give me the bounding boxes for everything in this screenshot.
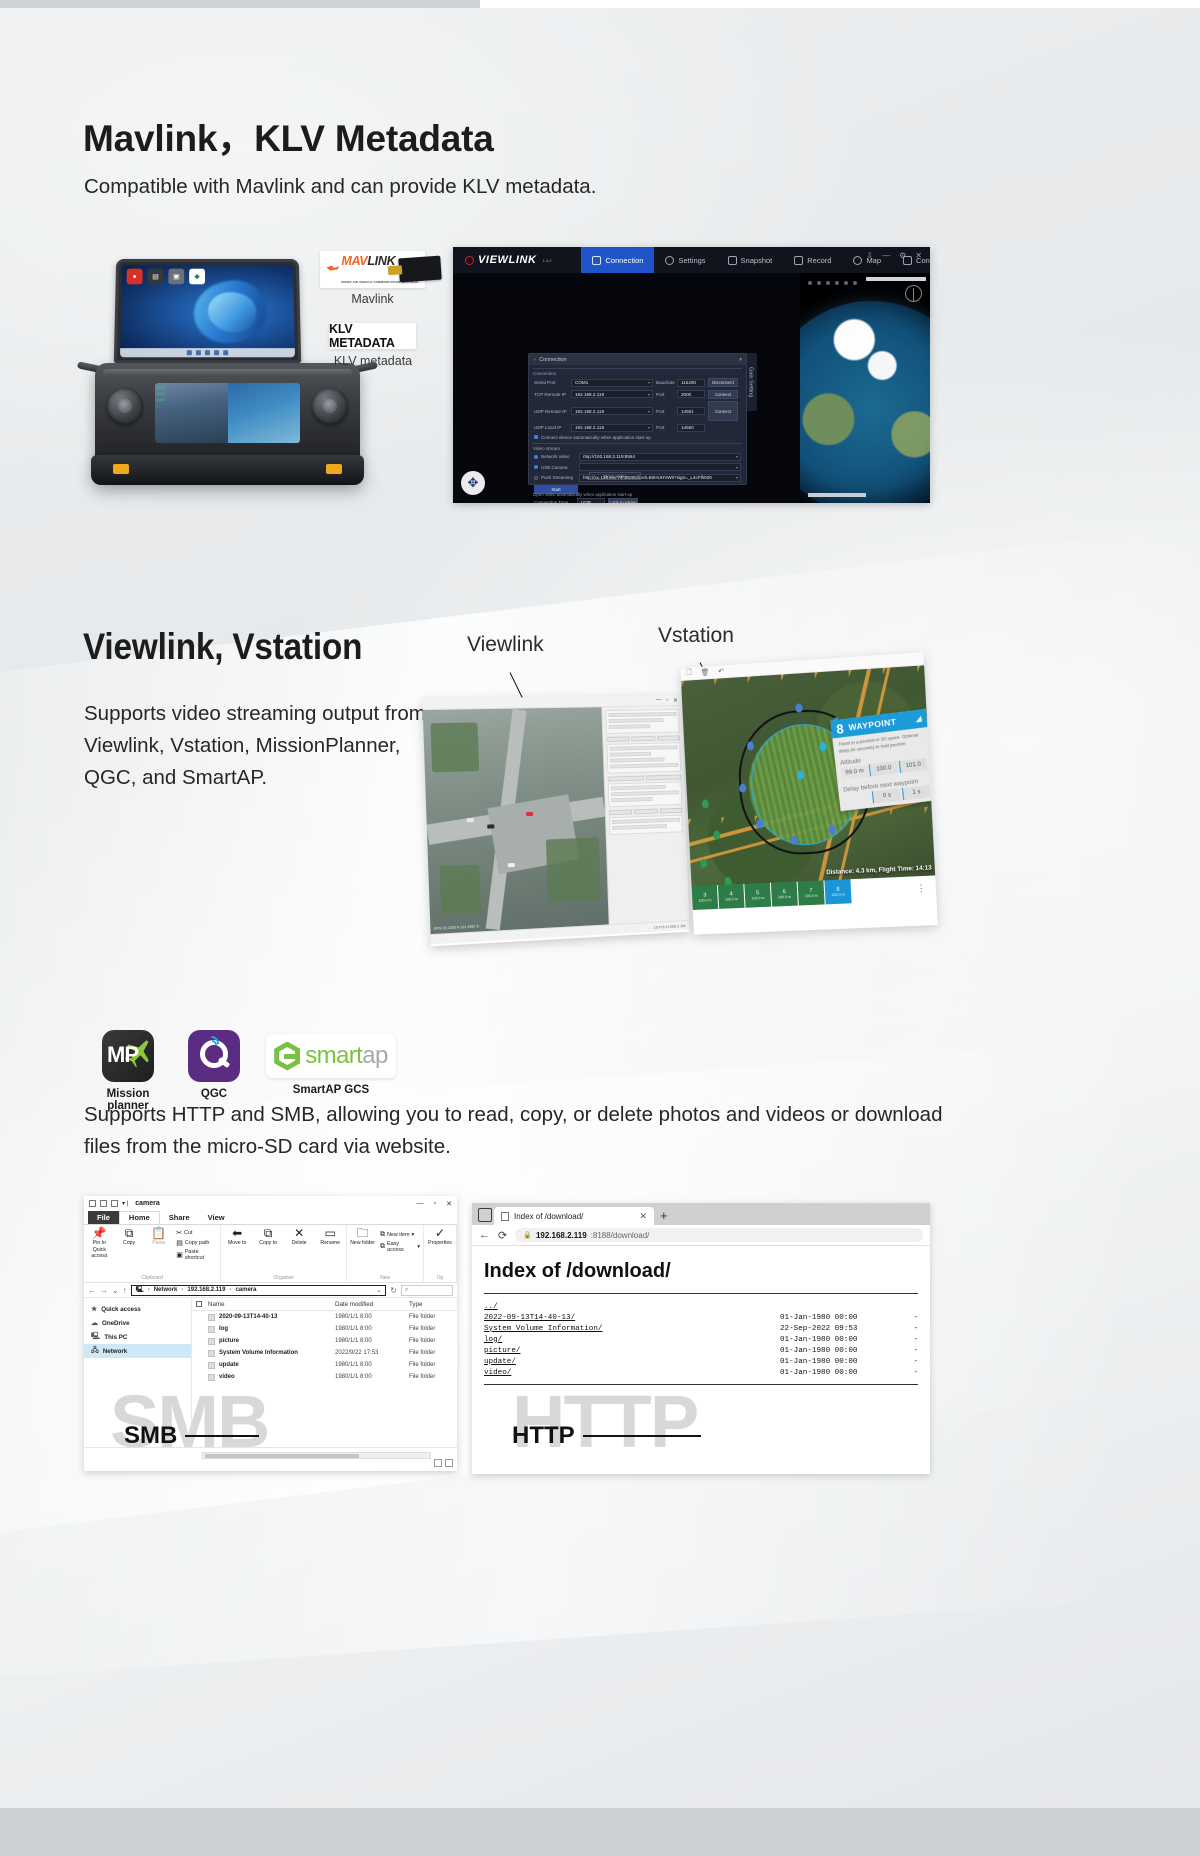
browser-tab[interactable]: Index of /download/ ✕ — [494, 1207, 654, 1225]
explorer-icon — [89, 1200, 96, 1207]
dir-date: 01-Jan-1980 00:00 — [780, 1358, 888, 1366]
baudrate-label: Baudrate — [656, 380, 674, 385]
viewlink-video-window: — ▫ ✕ GPS 31.2345 N 121.4567 E — [422, 695, 689, 946]
page-favicon — [501, 1212, 509, 1221]
dialog-logo-icon: ◑ — [533, 357, 536, 363]
dir-link[interactable]: ../ — [484, 1303, 498, 1311]
copy-to-icon: ⧉ — [264, 1227, 273, 1239]
logo-smartap: smartap SmartAP GCS — [266, 1034, 396, 1096]
file-icon[interactable]: 🗋 — [686, 668, 692, 679]
desktop-icon-red: ● — [127, 269, 143, 285]
waypoint-chip[interactable]: 7100.0 m — [798, 880, 826, 905]
explorer-titlebar: ▾ | camera — ▫ ✕ — [84, 1196, 457, 1211]
viewlink-nav-connection[interactable]: Connection — [581, 247, 654, 273]
row-udp-remote-ip: UDP Remote IP 192.168.2.119▾ Port 14551 … — [534, 401, 741, 421]
undo-icon[interactable]: ↶ — [718, 667, 724, 675]
cloud-icon: ☁ — [91, 1319, 98, 1327]
connection-dialog: ◑ Connection ▾ Connection Serial Port CO… — [528, 353, 747, 485]
controller-screen: ● ▤ ▣ ◆ — [114, 259, 301, 363]
up-icon[interactable]: ↑ — [123, 1286, 127, 1295]
row-connection-type: Connection Type UDP Lock to Vision — [534, 498, 741, 503]
dialog-title: Connection — [539, 357, 566, 363]
qgc-icon — [188, 1030, 240, 1082]
autoconnect-checkbox[interactable]: Connect device automatically when applic… — [534, 435, 741, 440]
controller-preview-screen: 0.000.000.00 — [155, 383, 300, 443]
table-row[interactable]: System Volume Information 2022/9/22 17:5… — [192, 1347, 457, 1359]
rename-icon: ▭ — [325, 1227, 336, 1239]
table-row[interactable]: 2020-09-13T14-40-13 1980/1/1 8:00File fo… — [192, 1311, 457, 1323]
row-usb-camera: USB Camera ▾ — [534, 463, 741, 471]
group-caption: New — [380, 1275, 390, 1282]
icons-view-icon[interactable] — [445, 1459, 453, 1467]
new-item-button[interactable]: ⧉New item▾ — [380, 1231, 420, 1239]
browser-address-bar: ← ⟳ 🔒 192.168.2.119:8188/download/ — [472, 1225, 930, 1246]
easy-access-button[interactable]: ⧉Easy access▾ — [380, 1241, 420, 1253]
column-date-modified[interactable]: Date modified — [335, 1301, 409, 1308]
callout-label-viewlink: Viewlink — [467, 633, 544, 657]
desktop-icon-smartap: ◆ — [189, 269, 205, 285]
bottom-strip — [0, 1808, 1200, 1856]
minimize-icon[interactable]: — — [882, 251, 890, 260]
viewlink-version: 1.4.0 — [543, 258, 552, 263]
minimize-icon[interactable]: — — [656, 697, 662, 703]
easy-access-icon: ⧉ — [380, 1243, 385, 1251]
move-to-button[interactable]: ⬅Move to — [224, 1227, 250, 1247]
cut-button[interactable]: ✂Cut — [176, 1229, 217, 1237]
paste-button[interactable]: 📋Paste — [146, 1227, 171, 1247]
rename-button[interactable]: ▭Rename — [317, 1227, 343, 1247]
desktop-icon-grey: ▣ — [168, 269, 184, 285]
nav-label: Snapshot — [741, 256, 773, 265]
list-item: log/ 01-Jan-1980 00:00 - — [484, 1334, 918, 1345]
dir-date: 01-Jan-1980 00:00 — [780, 1347, 888, 1355]
waypoint-number: 8 — [836, 721, 845, 737]
dir-link[interactable]: log/ — [484, 1336, 502, 1344]
network-video-label: Network video — [541, 454, 570, 459]
udp-local-ip-input[interactable]: 192.168.2.119▾ — [571, 424, 653, 432]
serial-port-label: Serial Port — [534, 380, 568, 385]
compass-icon — [905, 285, 922, 302]
dir-size: - — [888, 1314, 918, 1322]
smb-label: SMB — [124, 1422, 259, 1450]
waypoint-chip[interactable]: 3100.0 m — [692, 885, 720, 910]
search-input[interactable]: ⌕ — [401, 1285, 453, 1296]
push-streaming-label: Push Streaming — [541, 475, 573, 480]
autoconnect-label: Connect device automatically when applic… — [541, 435, 651, 440]
url-path: :8188/download/ — [591, 1231, 650, 1240]
close-video-button[interactable]: Close Video — [589, 472, 641, 480]
udp-local-ip-label: UDP Local IP — [534, 425, 568, 430]
dir-link[interactable]: picture/ — [484, 1347, 520, 1355]
plug-icon — [592, 256, 601, 265]
dir-link[interactable]: update/ — [484, 1358, 516, 1366]
tcp-port-label: Port — [656, 392, 674, 397]
folder-icon: 🗀 — [357, 1227, 369, 1239]
list-item: video/ 01-Jan-1980 00:00 - — [484, 1367, 918, 1378]
table-row[interactable]: log 1980/1/1 8:00File folder — [192, 1323, 457, 1335]
delete-x-icon: ✕ — [294, 1227, 304, 1239]
dir-size: - — [888, 1347, 918, 1355]
section3-body: Supports HTTP and SMB, allowing you to r… — [84, 1099, 984, 1163]
map-pin-icon — [853, 256, 862, 265]
column-name[interactable]: Name — [192, 1301, 335, 1308]
nav-network[interactable]: 🖧Network — [84, 1344, 191, 1358]
copy-button[interactable]: ⧉Copy — [117, 1227, 142, 1247]
reload-icon[interactable]: ⟳ — [498, 1229, 507, 1242]
recenter-icon[interactable]: ✥ — [461, 471, 485, 495]
tcp-remote-ip-label: TCP Remote IP — [534, 392, 568, 397]
pin-icon[interactable]: ⇩ — [866, 251, 873, 260]
scissors-icon: ✂ — [176, 1229, 182, 1237]
list-item: System Volume Information/ 22-Sep-2022 0… — [484, 1323, 918, 1334]
altitude-option-1[interactable]: 100.0 — [869, 761, 898, 776]
connection-type-label: Connection Type — [534, 500, 574, 503]
folder-icon — [208, 1338, 215, 1345]
section2-body: Supports video streaming output from Vie… — [84, 698, 434, 793]
column-type[interactable]: Type — [409, 1301, 457, 1308]
mavlink-bird-icon — [326, 264, 339, 276]
record-icon — [794, 256, 803, 265]
viewlink-nav-settings[interactable]: Settings — [654, 247, 716, 273]
waypoint-chip[interactable]: 6100.0 m — [771, 882, 799, 907]
refresh-icon[interactable]: ↻ — [390, 1286, 397, 1295]
star-icon: ★ — [91, 1305, 97, 1313]
baudrate-input[interactable]: 115200 — [677, 379, 705, 387]
list-item: ../ — [484, 1301, 918, 1312]
udp-remote-port-label: Port — [656, 409, 674, 414]
map-scale — [808, 493, 866, 497]
delay-option-2[interactable]: 1 s — [902, 785, 931, 800]
nav-quick-access[interactable]: ★Quick access — [84, 1302, 191, 1316]
usb-camera-label: USB Camera — [541, 465, 568, 470]
folder-icon — [208, 1326, 215, 1333]
video-osd: GPS 31.2345 N 121.4567 E — [433, 924, 479, 931]
delay-option-1[interactable]: 0 s — [872, 788, 901, 803]
viewlink-ring-icon — [465, 256, 474, 265]
group-connection-label: Connection — [533, 368, 742, 376]
tab-view[interactable]: View — [199, 1211, 234, 1224]
dir-size: - — [888, 1325, 918, 1333]
dir-link[interactable]: 2022-09-13T14-40-13/ — [484, 1314, 575, 1322]
computer-icon: 🖳 — [136, 1285, 144, 1295]
dialog-footer-note: Open video automatically when applicatio… — [533, 492, 632, 497]
ribbon-group-clipboard: 📌Pin to Quick access ⧉Copy 📋Paste ✂Cut ▤… — [84, 1225, 221, 1282]
usb-module-icon — [398, 256, 442, 283]
udp-connect-button[interactable]: Connect — [708, 401, 738, 421]
mavlink-wordmark-orange: MAV — [341, 254, 367, 268]
explorer-tabs: File Home Share View — [84, 1211, 457, 1225]
explorer-window-title: camera — [135, 1200, 160, 1207]
viewlink-logo: VIEWLINK 1.4.0 — [465, 254, 551, 266]
close-tab-icon[interactable]: ✕ — [639, 1211, 647, 1222]
explorer-ribbon: 📌Pin to Quick access ⧉Copy 📋Paste ✂Cut ▤… — [84, 1225, 457, 1283]
close-icon[interactable]: ✕ — [673, 697, 678, 704]
folder-icon — [208, 1350, 215, 1357]
table-row[interactable]: update 1980/1/1 8:00File folder — [192, 1359, 457, 1371]
controller-base-plate — [91, 455, 364, 485]
serial-port-input[interactable]: COM1▾ — [571, 379, 653, 387]
recent-icon[interactable]: ⌄ — [112, 1286, 119, 1295]
directory-listing: ../ 2022-09-13T14-40-13/ 01-Jan-1980 00:… — [472, 1294, 930, 1378]
udp-local-port-input[interactable]: 14550 — [677, 424, 705, 432]
smartap-wordmark-grey: ap — [362, 1042, 388, 1069]
mavlink-caption: Mavlink — [320, 292, 425, 306]
ribbon-group-organize: ⬅Move to ⧉Copy to ✕Delete ▭Rename Organi… — [221, 1225, 347, 1282]
new-folder-button[interactable]: 🗀New folder — [350, 1227, 375, 1247]
new-tab-icon[interactable]: + — [660, 1208, 668, 1223]
smartap-wordmark-green: smart — [305, 1042, 362, 1069]
row-serial-port: Serial Port COM1▾ Baudrate 115200 Discon… — [534, 378, 741, 387]
row-network-video: Network video rtsp://192.168.2.119:8554▾ — [534, 453, 741, 461]
browser-tabstrip: Index of /download/ ✕ + — [472, 1203, 930, 1225]
dir-size: - — [888, 1358, 918, 1366]
altitude-current[interactable]: 99.0 m — [841, 765, 869, 780]
group-video-label: Video stream — [533, 443, 742, 451]
lock-to-vision-button[interactable]: Lock to Vision — [608, 498, 638, 503]
page-title: Index of /download/ — [472, 1246, 930, 1293]
dir-link[interactable]: video/ — [484, 1369, 511, 1377]
dir-date: 01-Jan-1980 00:00 — [780, 1336, 888, 1344]
details-view-icon[interactable] — [434, 1459, 442, 1467]
lock-icon: 🔒 — [523, 1231, 532, 1239]
waypoint-panel-title: WAYPOINT — [848, 717, 897, 733]
nav-label: Connection — [605, 256, 643, 265]
viewlink-nav-record[interactable]: Record — [783, 247, 842, 273]
select-all-checkbox[interactable] — [196, 1301, 202, 1307]
waypoint-chip[interactable]: 5100.0 m — [744, 883, 772, 908]
dir-link[interactable]: System Volume Information/ — [484, 1325, 602, 1333]
waypoint-panel: 8 WAYPOINT Travel to a position in 3D sp… — [830, 709, 936, 811]
disconnect-button[interactable]: Disconnect — [708, 378, 738, 387]
pin-icon: 📌 — [92, 1227, 107, 1239]
copy-path-button[interactable]: ▤Copy path — [176, 1239, 217, 1247]
klv-badge-text: KLV METADATA — [329, 322, 416, 350]
tab-search-icon[interactable] — [478, 1208, 492, 1222]
viewlink-globe-view — [800, 273, 930, 503]
collapse-icon[interactable] — [915, 716, 922, 723]
table-row[interactable]: picture 1980/1/1 8:00File folder — [192, 1335, 457, 1347]
paste-icon: 📋 — [151, 1227, 166, 1239]
vstation-window: 🗋 🗑 ↶ Distance: — [680, 652, 937, 934]
viewlink-app-screenshot: VIEWLINK 1.4.0 Connection Settings Snaps… — [453, 247, 930, 503]
tab-home[interactable]: Home — [119, 1211, 160, 1224]
back-icon[interactable]: ← — [479, 1229, 490, 1241]
explorer-address-bar: ← → ⌄ ↑ 🖳 ›Network ›192.168.2.119 ›camer… — [84, 1283, 457, 1298]
left-stick — [107, 388, 143, 424]
file-list-header: Name Date modified Type — [192, 1298, 457, 1311]
tab-file[interactable]: File — [88, 1211, 119, 1224]
top-strip — [0, 0, 1200, 8]
minimize-icon[interactable]: — — [417, 1200, 424, 1207]
section2-title: Viewlink, Vstation — [83, 626, 362, 668]
nav-onedrive[interactable]: ☁OneDrive — [84, 1316, 191, 1330]
video-control-panel — [601, 706, 689, 924]
mavlink-badge: MAVLINK MICRO AIR VEHICLE COMMUNICATION … — [320, 251, 425, 288]
taskbar — [120, 348, 295, 357]
group-caption: Clipboard — [141, 1275, 162, 1282]
more-options-icon[interactable]: ⋮ — [916, 882, 926, 894]
ribbon-group-open: ✓Properties Op — [424, 1225, 457, 1282]
maximize-icon[interactable]: ▫ — [666, 697, 668, 703]
breadcrumb-host[interactable]: 192.168.2.119 — [187, 1287, 225, 1293]
udp-remote-ip-input[interactable]: 192.168.2.119▾ — [571, 407, 653, 415]
folder-icon — [208, 1314, 215, 1321]
logo-qgc: QGC — [182, 1030, 246, 1100]
new-item-icon: ⧉ — [380, 1231, 385, 1239]
viewlink-brand: VIEWLINK — [478, 254, 537, 266]
vstation-map[interactable]: Distance: 4.3 km, Flight Time: 14:13 8 W… — [681, 665, 936, 910]
properties-icon: ✓ — [435, 1227, 445, 1239]
forward-icon[interactable]: → — [100, 1286, 108, 1295]
waypoint-chip[interactable]: 4100.0 m — [718, 884, 746, 909]
section1-subtitle: Compatible with Mavlink and can provide … — [84, 171, 596, 203]
back-icon[interactable]: ← — [88, 1286, 96, 1295]
close-icon[interactable]: ✕ — [446, 1200, 452, 1208]
url-input[interactable]: 🔒 192.168.2.119:8188/download/ — [515, 1228, 923, 1242]
maximize-icon[interactable]: ▫ — [434, 1200, 436, 1207]
pin-to-quick-access-button[interactable]: 📌Pin to Quick access — [87, 1227, 112, 1260]
list-item: 2022-09-13T14-40-13/ 01-Jan-1980 00:00 - — [484, 1312, 918, 1323]
right-stick — [312, 388, 348, 424]
trash-icon[interactable]: 🗑 — [701, 668, 710, 676]
mission-planner-icon: MP — [102, 1030, 154, 1082]
delete-button[interactable]: ✕Delete — [286, 1227, 312, 1247]
browser-tab-title: Index of /download/ — [514, 1212, 583, 1221]
connection-type-input[interactable]: UDP — [577, 498, 605, 503]
breadcrumb[interactable]: 🖳 ›Network ›192.168.2.119 ›camera ⌄ — [131, 1285, 387, 1296]
new-folder-quick-icon[interactable] — [111, 1200, 118, 1207]
shortcut-icon: ▣ — [176, 1251, 183, 1259]
tcp-remote-ip-input[interactable]: 192.168.2.119▾ — [571, 390, 653, 398]
video-feed: GPS 31.2345 N 121.4567 E — [423, 707, 609, 934]
viewlink-toolbar: VIEWLINK 1.4.0 Connection Settings Snaps… — [453, 247, 930, 273]
gear-icon — [665, 256, 674, 265]
ribbon-group-new: 🗀New folder ⧉New item▾ ⧉Easy access▾ New — [347, 1225, 424, 1282]
copy-path-icon: ▤ — [176, 1239, 183, 1247]
pc-icon: 🖳 — [91, 1332, 100, 1343]
usb-camera-input[interactable]: ▾ — [579, 463, 741, 471]
breadcrumb-network[interactable]: Network — [154, 1287, 178, 1293]
group-caption: Organize — [274, 1275, 294, 1282]
group-caption: Op — [437, 1275, 444, 1282]
close-icon[interactable]: ✕ — [915, 251, 922, 260]
udp-remote-ip-label: UDP Remote IP — [534, 409, 568, 414]
list-item: update/ 01-Jan-1980 00:00 - — [484, 1356, 918, 1367]
viewlink-nav-snapshot[interactable]: Snapshot — [717, 247, 784, 273]
copy-to-button[interactable]: ⧉Copy to — [255, 1227, 281, 1247]
dir-size: - — [888, 1336, 918, 1344]
klv-metadata-badge: KLV METADATA — [329, 323, 416, 349]
copy-icon: ⧉ — [125, 1227, 134, 1239]
tcp-connect-button[interactable]: Connect — [708, 390, 738, 399]
tab-share[interactable]: Share — [160, 1211, 199, 1224]
desktop-icon-dark: ▤ — [147, 269, 163, 285]
properties-button[interactable]: ✓Properties — [427, 1227, 453, 1247]
dir-date: 01-Jan-1980 00:00 — [780, 1369, 888, 1377]
network-video-input[interactable]: rtsp://192.168.2.119:8554▾ — [579, 453, 741, 461]
udp-remote-port-input[interactable]: 14551 — [677, 407, 705, 415]
dialog-collapse-icon[interactable]: ▾ — [739, 357, 742, 363]
dir-size: - — [888, 1369, 918, 1377]
list-item: picture/ 01-Jan-1980 00:00 - — [484, 1345, 918, 1356]
section1-title: Mavlink，KLV Metadata — [83, 108, 494, 162]
waypoint-chip-selected[interactable]: 8100.0 m — [824, 879, 852, 904]
http-label: HTTP — [512, 1422, 701, 1450]
nav-label: Settings — [678, 256, 705, 265]
breadcrumb-camera[interactable]: camera — [235, 1287, 256, 1293]
dir-date: 22-Sep-2022 09:53 — [780, 1325, 888, 1333]
smartap-icon: smartap — [266, 1034, 396, 1078]
logo-caption: SmartAP GCS — [266, 1084, 396, 1096]
move-icon: ⬅ — [232, 1227, 242, 1239]
callout-label-vstation: Vstation — [658, 624, 734, 648]
properties-quick-icon[interactable] — [100, 1200, 107, 1207]
udp-local-port-label: Port — [656, 425, 674, 430]
nav-label: Record — [807, 256, 831, 265]
network-icon: 🖧 — [91, 1346, 99, 1357]
tcp-port-input[interactable]: 2000 — [677, 390, 705, 398]
nav-this-pc[interactable]: 🖳This PC — [84, 1330, 191, 1344]
row-tcp-remote-ip: TCP Remote IP 192.168.2.119▾ Port 2000 C… — [534, 390, 741, 399]
delay-spacer — [844, 792, 872, 807]
klv-caption: KLV metadata — [318, 354, 428, 368]
altitude-option-2[interactable]: 101.0 — [898, 758, 927, 773]
url-host: 192.168.2.119 — [536, 1231, 587, 1240]
folder-icon — [208, 1362, 215, 1369]
dir-date: 01-Jan-1980 00:00 — [780, 1314, 888, 1322]
camera-icon — [728, 256, 737, 265]
row-udp-local-ip: UDP Local IP 192.168.2.119▾ Port 14550 — [534, 424, 741, 432]
settings-icon[interactable]: ⚙ — [899, 251, 906, 260]
paste-shortcut-button[interactable]: ▣Paste shortcut — [176, 1249, 217, 1261]
